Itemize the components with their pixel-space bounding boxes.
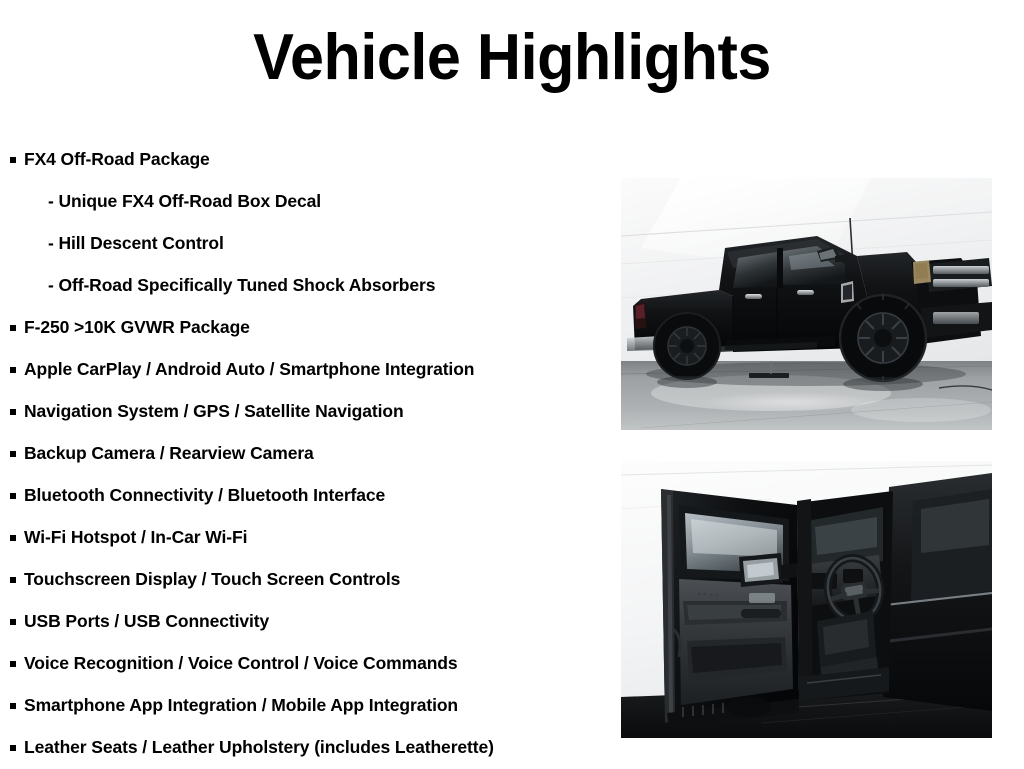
square-bullet-icon: [10, 619, 16, 625]
list-item: Wi-Fi Hotspot / In-Car Wi-Fi: [0, 517, 612, 559]
list-item-label: - Off-Road Specifically Tuned Shock Abso…: [48, 277, 435, 295]
list-item: Touchscreen Display / Touch Screen Contr…: [0, 559, 612, 601]
interior-photo-illustration: [621, 461, 992, 738]
list-item: Backup Camera / Rearview Camera: [0, 433, 612, 475]
list-item: - Off-Road Specifically Tuned Shock Abso…: [0, 265, 612, 307]
list-item: Smartphone App Integration / Mobile App …: [0, 685, 612, 727]
bullet-spacer: [10, 199, 16, 205]
list-item-label: USB Ports / USB Connectivity: [24, 613, 269, 631]
list-item: - Hill Descent Control: [0, 223, 612, 265]
list-item: Navigation System / GPS / Satellite Navi…: [0, 391, 612, 433]
square-bullet-icon: [10, 451, 16, 457]
list-item-label: Backup Camera / Rearview Camera: [24, 445, 314, 463]
list-item-label: Apple CarPlay / Android Auto / Smartphon…: [24, 361, 474, 379]
list-item: F-250 >10K GVWR Package: [0, 307, 612, 349]
list-item-label: FX4 Off-Road Package: [24, 151, 210, 169]
list-item: Apple CarPlay / Android Auto / Smartphon…: [0, 349, 612, 391]
square-bullet-icon: [10, 409, 16, 415]
list-item-label: Touchscreen Display / Touch Screen Contr…: [24, 571, 400, 589]
bullet-spacer: [10, 241, 16, 247]
list-item: USB Ports / USB Connectivity: [0, 601, 612, 643]
list-item-label: Leather Seats / Leather Upholstery (incl…: [24, 739, 494, 757]
square-bullet-icon: [10, 703, 16, 709]
list-item: - Unique FX4 Off-Road Box Decal: [0, 181, 612, 223]
square-bullet-icon: [10, 157, 16, 163]
square-bullet-icon: [10, 661, 16, 667]
square-bullet-icon: [10, 535, 16, 541]
list-item: FX4 Off-Road Package: [0, 139, 612, 181]
bullet-spacer: [10, 283, 16, 289]
list-item: Bluetooth Connectivity / Bluetooth Inter…: [0, 475, 612, 517]
list-item-label: Bluetooth Connectivity / Bluetooth Inter…: [24, 487, 385, 505]
list-item: Voice Recognition / Voice Control / Voic…: [0, 643, 612, 685]
exterior-photo-illustration: [621, 178, 992, 430]
vehicle-highlights-list: FX4 Off-Road Package - Unique FX4 Off-Ro…: [0, 139, 612, 769]
square-bullet-icon: [10, 493, 16, 499]
list-item-label: Wi-Fi Hotspot / In-Car Wi-Fi: [24, 529, 247, 547]
interior-photo: [621, 461, 992, 738]
list-item-label: Voice Recognition / Voice Control / Voic…: [24, 655, 458, 673]
list-item-label: F-250 >10K GVWR Package: [24, 319, 250, 337]
exterior-photo: [621, 178, 992, 430]
square-bullet-icon: [10, 577, 16, 583]
square-bullet-icon: [10, 367, 16, 373]
list-item-label: Navigation System / GPS / Satellite Navi…: [24, 403, 404, 421]
list-item-label: Smartphone App Integration / Mobile App …: [24, 697, 458, 715]
list-item-label: - Hill Descent Control: [48, 235, 224, 253]
square-bullet-icon: [10, 325, 16, 331]
list-item: Leather Seats / Leather Upholstery (incl…: [0, 727, 612, 769]
square-bullet-icon: [10, 745, 16, 751]
list-item-label: - Unique FX4 Off-Road Box Decal: [48, 193, 321, 211]
page-title: Vehicle Highlights: [31, 24, 994, 89]
